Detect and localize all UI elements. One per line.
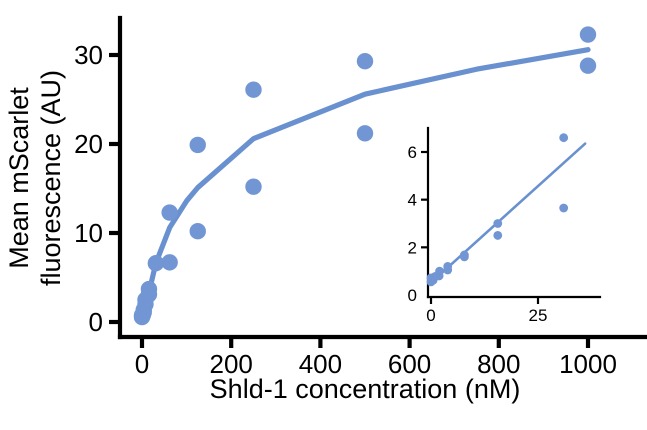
data-point bbox=[357, 53, 373, 69]
data-point bbox=[493, 231, 502, 240]
main-y-tick-labels: 0102030 bbox=[74, 40, 103, 337]
figure-root: 0102030 02004006008001000 0246 025 Shld-… bbox=[0, 0, 647, 430]
main-x-tick-label: 0 bbox=[135, 349, 149, 379]
inset-y-tick-label: 6 bbox=[408, 143, 417, 162]
x-axis-label: Shld-1 concentration (nM) bbox=[210, 374, 521, 404]
data-point bbox=[493, 219, 502, 228]
y-axis-label-line-2: fluorescence (AU) bbox=[36, 70, 66, 286]
data-point bbox=[580, 57, 596, 73]
data-point bbox=[190, 137, 206, 153]
data-point bbox=[141, 281, 157, 297]
main-fit-line bbox=[142, 50, 588, 318]
inset-data-points bbox=[427, 133, 568, 286]
data-point bbox=[161, 204, 177, 220]
main-y-tick-label: 10 bbox=[74, 218, 103, 248]
main-plot: 0102030 02004006008001000 bbox=[74, 18, 645, 379]
inset-plot: 0246 025 bbox=[408, 128, 600, 325]
data-point bbox=[435, 267, 444, 276]
data-point bbox=[245, 82, 261, 98]
y-axis-label-line-1: Mean mScarlet bbox=[4, 87, 34, 269]
data-point bbox=[161, 254, 177, 270]
inset-y-tick-labels: 0246 bbox=[408, 143, 417, 305]
data-point bbox=[580, 26, 596, 42]
main-data-points bbox=[134, 26, 596, 325]
data-point bbox=[357, 125, 373, 141]
data-point bbox=[443, 262, 452, 271]
inset-y-tick-label: 0 bbox=[408, 286, 417, 305]
data-point bbox=[559, 204, 568, 213]
main-y-tick-label: 20 bbox=[74, 129, 103, 159]
data-point bbox=[190, 223, 206, 239]
inset-y-tick-label: 4 bbox=[408, 191, 417, 210]
main-y-tick-label: 0 bbox=[89, 307, 103, 337]
data-point bbox=[460, 251, 469, 260]
inset-x-tick-label: 0 bbox=[426, 306, 435, 325]
inset-y-tick-label: 2 bbox=[408, 238, 417, 257]
inset-fit-line bbox=[431, 144, 585, 283]
data-point bbox=[559, 133, 568, 142]
main-x-tick-label: 1000 bbox=[559, 349, 617, 379]
main-y-tick-label: 30 bbox=[74, 40, 103, 70]
data-point bbox=[245, 179, 261, 195]
scatter-chart: 0102030 02004006008001000 0246 025 Shld-… bbox=[0, 0, 647, 430]
inset-x-tick-label: 25 bbox=[529, 306, 548, 325]
inset-x-tick-labels: 025 bbox=[426, 306, 547, 325]
